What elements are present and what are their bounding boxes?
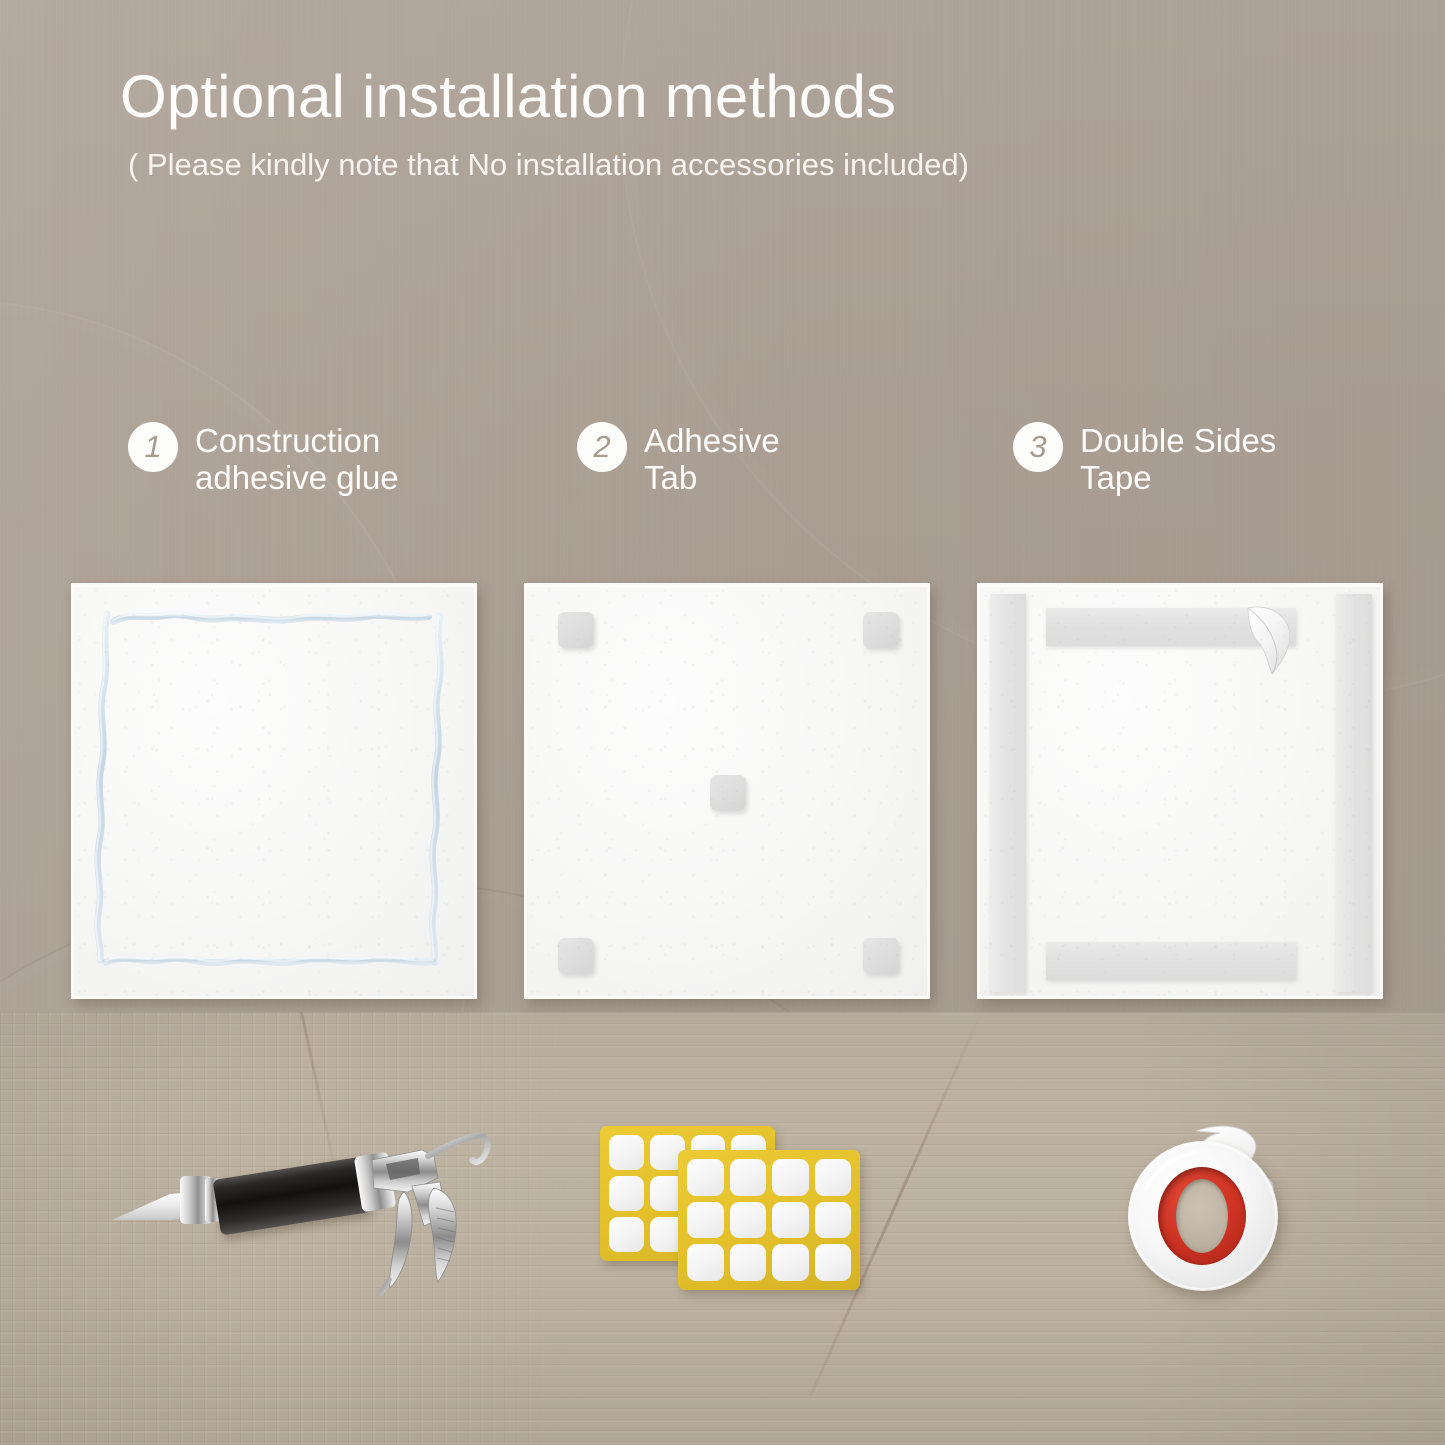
step-1-number-badge: 1 <box>128 422 178 472</box>
step-2-label: Adhesive Tab <box>644 422 780 497</box>
adhesive-tab-cell <box>609 1176 644 1211</box>
adhesive-tab-cell <box>609 1135 644 1170</box>
adhesive-tab-cell <box>772 1202 809 1239</box>
adhesive-tab-cell <box>815 1159 852 1196</box>
tape-roll-highlight-icon <box>1128 1141 1278 1291</box>
step-3: 3 Double Sides Tape <box>1013 422 1276 497</box>
adhesive-tab-cell <box>687 1159 724 1196</box>
adhesive-tab-cell <box>815 1202 852 1239</box>
step-2-number-badge: 2 <box>577 422 627 472</box>
page-title: Optional installation methods <box>120 62 896 131</box>
adhesive-tab-icon <box>863 938 899 974</box>
step-1-label: Construction adhesive glue <box>195 422 399 497</box>
adhesive-tab-cell <box>730 1202 767 1239</box>
adhesive-tab-icon <box>863 612 899 648</box>
step-2: 2 Adhesive Tab <box>577 422 780 497</box>
adhesive-tab-cell <box>772 1159 809 1196</box>
adhesive-tab-cell <box>730 1244 767 1281</box>
adhesive-tab-cell <box>687 1244 724 1281</box>
caulking-gun-frame-icon <box>368 1130 498 1320</box>
infographic-canvas: Optional installation methods ( Please k… <box>0 0 1445 1445</box>
glue-bead-panel <box>71 583 477 999</box>
adhesive-tab-icon <box>558 612 594 648</box>
double-sided-tape-panel <box>977 583 1383 999</box>
page-subtitle: ( Please kindly note that No installatio… <box>128 147 969 183</box>
caulking-gun-barrel-icon <box>213 1156 372 1235</box>
adhesive-tab-panel <box>524 583 930 999</box>
adhesive-tab-sheets <box>600 1126 860 1296</box>
double-sided-tape-roll <box>1120 1125 1350 1305</box>
adhesive-tab-icon <box>558 938 594 974</box>
tape-liner-peel-icon <box>1232 602 1342 690</box>
adhesive-tab-cell <box>609 1217 644 1252</box>
tape-strip-bottom-icon <box>1046 942 1296 980</box>
step-3-label: Double Sides Tape <box>1080 422 1276 497</box>
glue-bead-icon <box>74 586 474 996</box>
step-1: 1 Construction adhesive glue <box>128 422 399 497</box>
caulking-gun <box>110 1130 490 1320</box>
adhesive-tab-cell <box>772 1244 809 1281</box>
adhesive-tab-icon <box>710 775 746 811</box>
step-3-number-badge: 3 <box>1013 422 1063 472</box>
adhesive-tab-cell <box>687 1202 724 1239</box>
adhesive-tab-cell <box>730 1159 767 1196</box>
tape-strip-left-icon <box>990 594 1026 992</box>
adhesive-tab-sheet-front <box>678 1150 860 1290</box>
adhesive-tab-cell <box>815 1244 852 1281</box>
